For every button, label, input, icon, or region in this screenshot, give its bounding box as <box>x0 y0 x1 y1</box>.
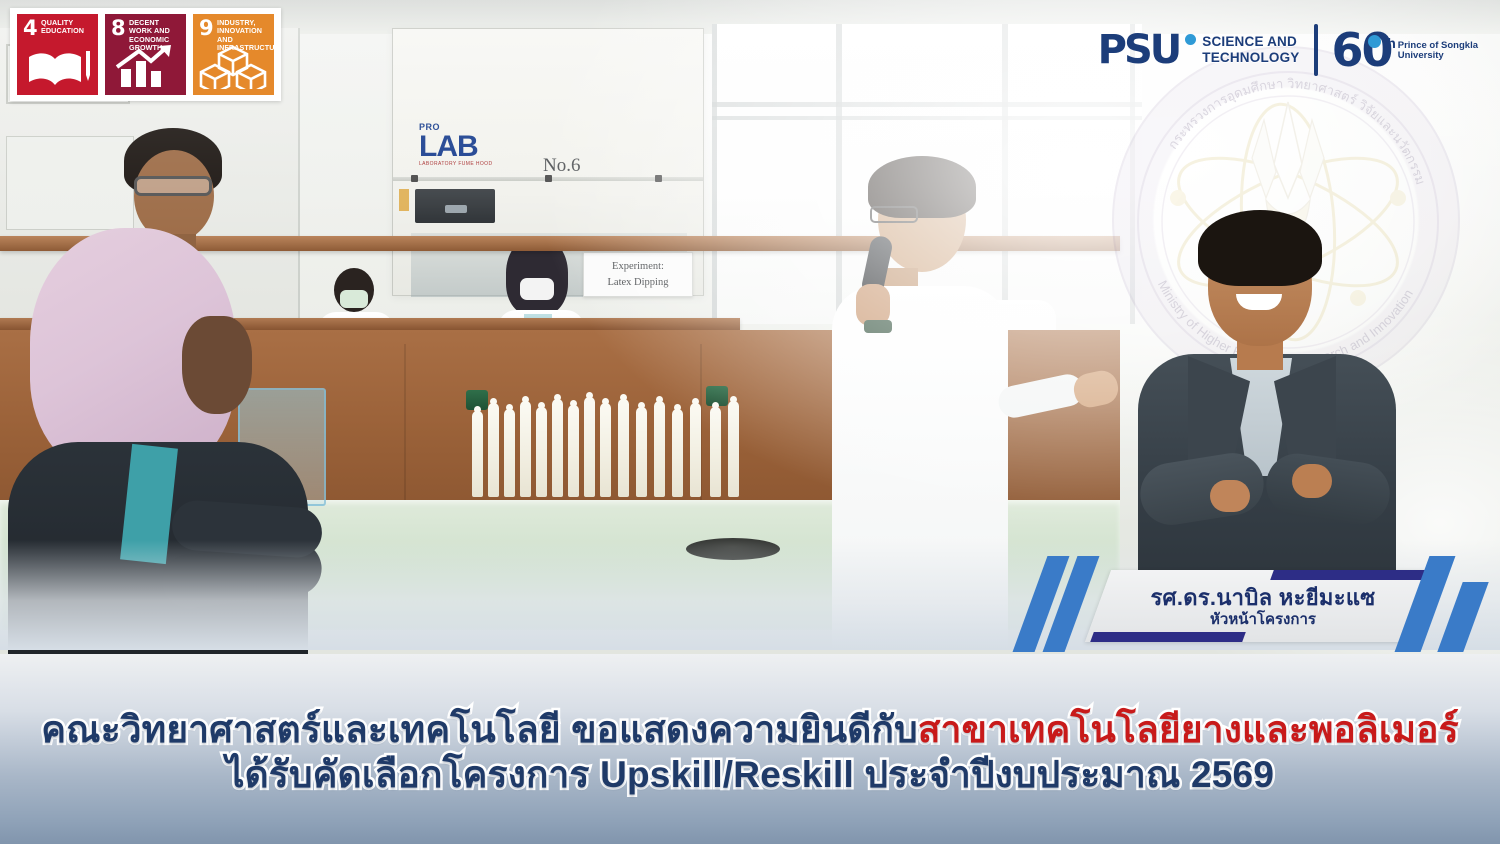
experiment-sign-line1: Experiment: <box>612 259 664 275</box>
psu-faculty-name: SCIENCE AND TECHNOLOGY <box>1202 34 1299 67</box>
caption-bar: คณะวิทยาศาสตร์และเทคโนโลยี ขอแสดงความยิน… <box>0 654 1500 844</box>
anniversary-dot-icon <box>1368 35 1381 48</box>
open-book-pencil-icon <box>17 45 98 89</box>
sdg-badge-4-number: 4 <box>23 18 38 39</box>
sdg-badge-9[interactable]: 9 INDUSTRY, INNOVATION AND INFRASTRUCTUR… <box>193 14 274 95</box>
bench-sink-hole <box>686 538 780 560</box>
hood-indicator-light <box>399 189 409 211</box>
growth-bar-chart-arrow-icon <box>105 45 186 89</box>
poster-root: PRO LAB LABORATORY FUME HOOD No.6 Experi… <box>0 0 1500 844</box>
sdg-badge-4[interactable]: 4 QUALITY EDUCATION <box>17 14 98 95</box>
psu-faculty-line1: SCIENCE AND <box>1202 34 1297 49</box>
psu-wordmark: PSU <box>1098 30 1180 70</box>
psu-faculty-logo: PSU SCIENCE AND TECHNOLOGY <box>1098 30 1300 70</box>
experiment-sign: Experiment: Latex Dipping <box>583 252 693 297</box>
psu-dot-icon <box>1185 34 1196 45</box>
university-line2: University <box>1398 50 1444 61</box>
prolab-logo-lab: LAB <box>419 130 478 163</box>
prolab-logo-subtitle: LABORATORY FUME HOOD <box>419 162 492 167</box>
psu-faculty-line2: TECHNOLOGY <box>1202 50 1299 65</box>
name-banner-text: รศ.ดร.นาบิล หะยีมะแซ หัวหน้าโครงการ <box>1102 576 1424 638</box>
project-leader-portrait <box>1124 206 1414 606</box>
caption-line-2: ได้รับคัดเลือกโครงการ Upskill/Reskill ปร… <box>226 752 1274 797</box>
project-leader-role: หัวหน้าโครงการ <box>1210 611 1316 628</box>
university-line1: Prince of Songkla <box>1398 40 1478 51</box>
fume-hood-number: No.6 <box>543 155 580 177</box>
stacked-cubes-icon <box>193 45 274 89</box>
sdg-badge-9-number: 9 <box>199 18 214 39</box>
wristwatch-icon <box>864 320 892 333</box>
safety-goggles-icon <box>134 176 212 196</box>
eyeglasses-icon <box>870 206 918 223</box>
prolab-logo: PRO LAB LABORATORY FUME HOOD <box>419 123 492 167</box>
fume-hood-control-panel[interactable] <box>415 189 495 223</box>
psu-university-name: Prince of Songkla University <box>1398 41 1478 62</box>
logo-divider <box>1314 24 1318 76</box>
sdg-badge-8-number: 8 <box>111 18 126 39</box>
caption-line-1: คณะวิทยาศาสตร์และเทคโนโลยี ขอแสดงความยิน… <box>41 707 1459 752</box>
sdg-badge-8[interactable]: 8 DECENT WORK AND ECONOMIC GROWTH <box>105 14 186 95</box>
sdg-badges: 4 QUALITY EDUCATION 8 DECENT WORK AND EC… <box>10 8 281 101</box>
anniversary-suffix: th <box>1383 35 1396 51</box>
latex-dipping-figurine-tray <box>470 372 770 497</box>
name-banner: รศ.ดร.นาบิล หะยีมะแซ หัวหน้าโครงการ <box>1020 556 1490 652</box>
project-leader-name: รศ.ดร.นาบิล หะยีมะแซ <box>1150 586 1375 610</box>
psu-60th-anniversary-logo: 60 th Prince of Songkla University <box>1332 29 1478 71</box>
sdg-badge-4-title: QUALITY EDUCATION <box>41 19 95 36</box>
experiment-sign-line2: Latex Dipping <box>608 275 669 291</box>
caption-line-1-main: คณะวิทยาศาสตร์และเทคโนโลยี ขอแสดงความยิน… <box>41 709 918 750</box>
caption-line-1-highlight: สาขาเทคโนโลยียางและพอลิเมอร์ <box>918 709 1459 750</box>
psu-logo[interactable]: PSU SCIENCE AND TECHNOLOGY 60 th Prince … <box>1098 24 1478 76</box>
